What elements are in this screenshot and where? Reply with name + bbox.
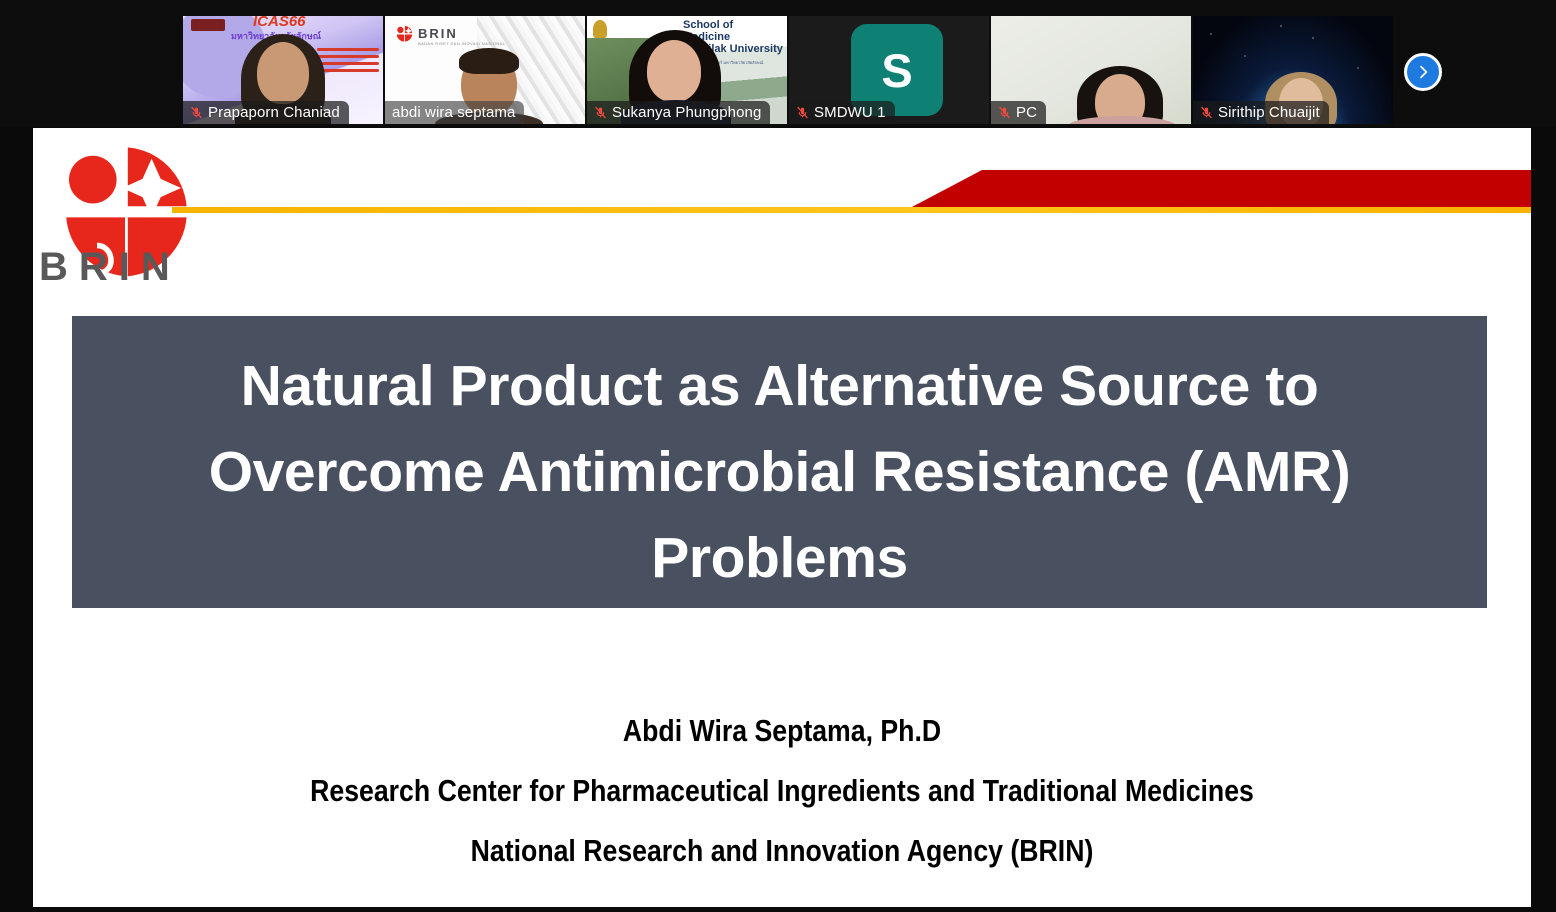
participant-name: SMDWU 1 bbox=[814, 104, 886, 121]
header-red-accent-shape bbox=[910, 170, 1531, 208]
overlay-bullet-list-icon bbox=[317, 44, 379, 76]
participant-head bbox=[647, 40, 701, 102]
participant-name: Prapaporn Chaniad bbox=[208, 104, 340, 121]
microphone-muted-icon bbox=[190, 104, 203, 121]
participant-tile-prapaporn-chaniad[interactable]: ICAS66 มหาวิทยาลัยวลัยลักษณ์ Prapaporn C… bbox=[183, 16, 383, 124]
smd-badge-icon bbox=[191, 19, 225, 31]
participant-tile-abdi-wira-septama[interactable]: BRIN BADAN RISET DAN INOVASI NASIONAL ab… bbox=[385, 16, 585, 124]
participant-name: Sirithip Chuaijit bbox=[1218, 104, 1320, 121]
participant-hair bbox=[459, 48, 519, 74]
participant-tile-smdwu-1[interactable]: S SMDWU 1 bbox=[789, 16, 989, 124]
brin-wordmark: BRIN bbox=[39, 245, 181, 290]
participant-tile-pc[interactable]: PC bbox=[991, 16, 1191, 124]
microphone-muted-icon bbox=[594, 104, 607, 121]
participant-name-bar: abdi wira septama bbox=[385, 101, 524, 124]
microphone-muted-icon bbox=[998, 104, 1011, 121]
brin-wordmark: BRIN bbox=[418, 26, 458, 41]
participant-filmstrip: ICAS66 มหาวิทยาลัยวลัยลักษณ์ Prapaporn C… bbox=[0, 0, 1556, 126]
participant-tile-sukanya-phungphong[interactable]: School of Medicine Walailak University ส… bbox=[587, 16, 787, 124]
participant-name-bar: Sukanya Phungphong bbox=[587, 101, 770, 124]
participant-name: Sukanya Phungphong bbox=[612, 104, 761, 121]
affiliation-line-1: Research Center for Pharmaceutical Ingre… bbox=[138, 773, 1426, 809]
participant-tile-sirithip-chuaijit[interactable]: Sirithip Chuaijit bbox=[1193, 16, 1393, 124]
brin-logo-icon bbox=[395, 25, 413, 43]
page-title: Natural Product as Alternative Source to… bbox=[72, 316, 1487, 601]
microphone-muted-icon bbox=[1200, 104, 1213, 121]
slide-byline: Abdi Wira Septama, Ph.D Research Center … bbox=[33, 713, 1531, 869]
slide-title-box: Natural Product as Alternative Source to… bbox=[72, 316, 1487, 608]
participant-name-bar: Sirithip Chuaijit bbox=[1193, 101, 1329, 124]
chevron-right-icon bbox=[1415, 64, 1431, 80]
header-gold-rule bbox=[172, 207, 1531, 213]
participant-name-bar: SMDWU 1 bbox=[789, 101, 895, 124]
zoom-screen-share-window: ICAS66 มหาวิทยาลัยวลัยลักษณ์ Prapaporn C… bbox=[0, 0, 1556, 912]
participant-name: abdi wira septama bbox=[392, 104, 515, 121]
participant-head bbox=[257, 42, 309, 104]
affiliation-line-2: National Research and Innovation Agency … bbox=[138, 833, 1426, 869]
brin-tagline: BADAN RISET DAN INOVASI NASIONAL bbox=[418, 41, 505, 46]
participant-name: PC bbox=[1016, 104, 1037, 121]
next-participants-page-button[interactable] bbox=[1404, 53, 1442, 91]
shared-slide: BRIN Natural Product as Alternative Sour… bbox=[33, 128, 1531, 907]
participant-name-bar: PC bbox=[991, 101, 1046, 124]
university-crest-icon bbox=[593, 20, 607, 38]
microphone-muted-icon bbox=[796, 104, 809, 121]
participant-name-bar: Prapaporn Chaniad bbox=[183, 101, 349, 124]
overlay-title: ICAS66 bbox=[253, 16, 306, 30]
author-name: Abdi Wira Septama, Ph.D bbox=[138, 713, 1426, 749]
